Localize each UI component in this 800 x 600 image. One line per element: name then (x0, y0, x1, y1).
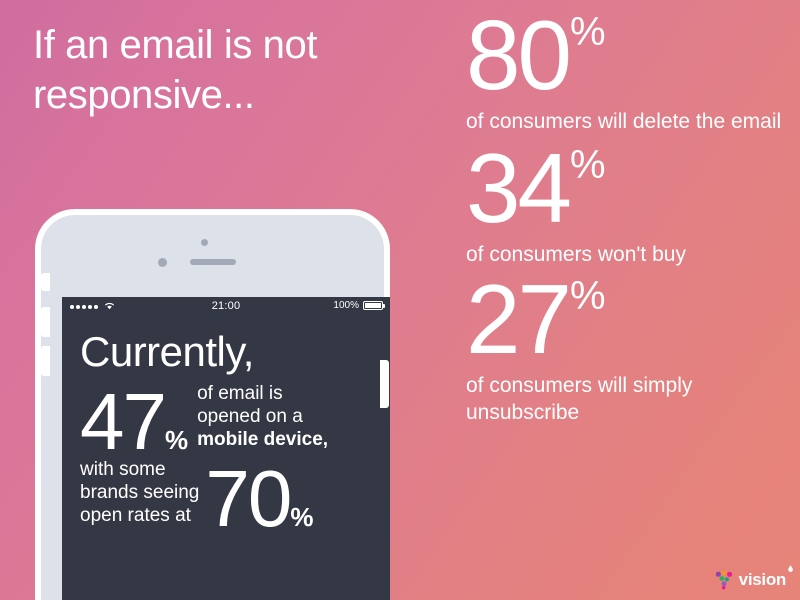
desc-line-3: open rates at (80, 504, 199, 527)
stat-item: 27 % of consumers will simply unsubscrib… (466, 272, 796, 426)
battery-full-icon (363, 301, 383, 310)
stat-value-row: 80 % (466, 8, 796, 102)
phone-body: 21:00 100% Currently, 47% of email is op… (35, 209, 390, 600)
stat-value-row: 27 % (466, 272, 796, 366)
stat-list: 80 % of consumers will delete the email … (466, 8, 796, 426)
desc-line-3: mobile device, (197, 428, 328, 451)
phone-screen: 21:00 100% Currently, 47% of email is op… (62, 297, 390, 600)
phone-volume-down-button[interactable] (41, 346, 50, 376)
phone-proximity-sensor-icon (201, 239, 208, 246)
status-bar-battery-group: 100% (333, 300, 383, 311)
stat-value-row: 34 % (466, 141, 796, 235)
phone-power-button[interactable] (380, 360, 389, 408)
screen-heading: Currently, (80, 331, 374, 373)
stat-item: 80 % of consumers will delete the email (466, 8, 796, 135)
stat-description: of consumers will simply unsubscribe (466, 372, 796, 426)
desc-line-2: brands seeing (80, 481, 199, 504)
brand-open-rate-stat: with some brands seeing open rates at 70… (80, 458, 374, 531)
stat-number: 34 (466, 141, 569, 235)
stat-number: 27 (466, 272, 569, 366)
desc-line-1: of email is (197, 382, 328, 405)
desc-line-2: opened on a (197, 405, 328, 428)
phone-silent-switch[interactable] (41, 273, 50, 291)
stat-number-47: 47% (80, 390, 188, 454)
desc-line-1: with some (80, 458, 199, 481)
percent-symbol: % (570, 12, 606, 52)
stat-number-70: 70% (205, 467, 313, 531)
phone-volume-up-button[interactable] (41, 307, 50, 337)
phone-speaker-grille (190, 259, 236, 265)
vision-dots-logo-mark (715, 570, 735, 590)
logo-trademark-icon (788, 565, 793, 572)
phone-front-camera-icon (158, 258, 167, 267)
percent-symbol: % (570, 145, 606, 185)
mobile-open-rate-stat: 47% of email is opened on a mobile devic… (80, 382, 374, 454)
vision-logo: vision (715, 570, 786, 590)
page-title: If an email is not responsive... (33, 20, 443, 120)
screen-content: Currently, 47% of email is opened on a m… (62, 317, 390, 531)
stat-number: 80 (466, 8, 569, 102)
infographic-canvas: If an email is not responsive... 80 % of… (0, 0, 800, 600)
battery-percent-label: 100% (333, 300, 359, 311)
smartphone-illustration: 21:00 100% Currently, 47% of email is op… (28, 209, 390, 600)
percent-symbol: % (570, 276, 606, 316)
phone-status-bar: 21:00 100% (62, 297, 390, 317)
percent-symbol: % (165, 425, 188, 455)
percent-symbol: % (290, 502, 313, 532)
stat-description: of consumers will delete the email (466, 108, 796, 135)
stat-70-description: with some brands seeing open rates at (80, 458, 199, 531)
stat-item: 34 % of consumers won't buy (466, 141, 796, 268)
stat-47-description: of email is opened on a mobile device, (197, 382, 328, 454)
logo-wordmark: vision (739, 570, 786, 590)
